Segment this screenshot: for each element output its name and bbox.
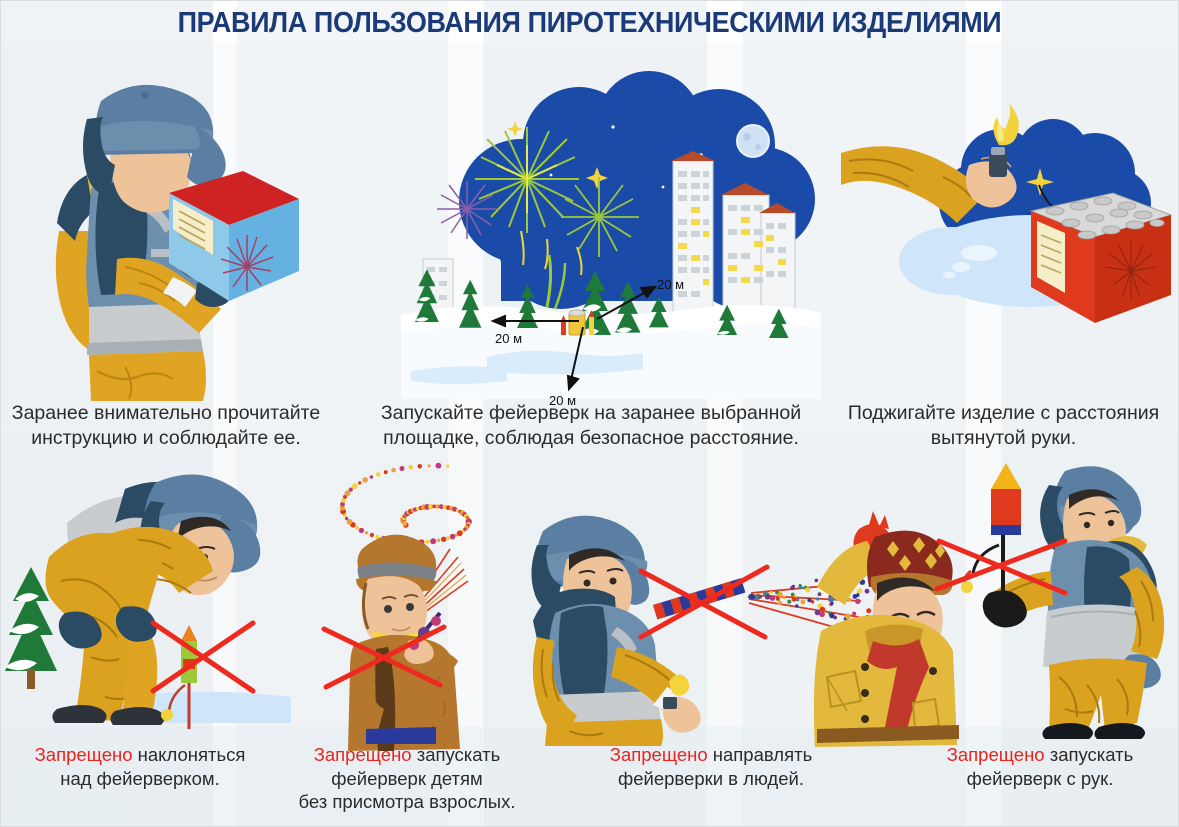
caption-no-handheld: Запрещено запускать фейерверк с рук. [901, 743, 1179, 790]
caption-line: Поджигайте изделие с расстояния [831, 401, 1176, 426]
illustration-no-aiming [521, 501, 941, 746]
caption-line: без присмотра взрослых. [283, 790, 531, 814]
caption-line: вытянутой руки. [831, 426, 1176, 451]
caption-read-instruction: Заранее внимательно прочитайте инструкци… [0, 401, 341, 451]
illustration-no-bending [1, 461, 291, 746]
illustration-no-children [296, 461, 541, 746]
caption-rest: наклоняться [133, 744, 246, 765]
caption-line: Запрещено запускать [901, 743, 1179, 767]
caption-rest: направлять [708, 744, 813, 765]
caption-line: Запрещено запускать [283, 743, 531, 767]
distance-label-right: 20 м [657, 277, 684, 292]
page-title: ПРАВИЛА ПОЛЬЗОВАНИЯ ПИРОТЕХНИЧЕСКИМИ ИЗД… [42, 7, 1137, 40]
caption-no-aiming: Запрещено направлять фейерверки в людей. [561, 743, 861, 790]
illustration-read-instruction [21, 71, 311, 401]
caption-line: площадке, соблюдая безопасное расстояние… [356, 426, 826, 451]
illustration-safe-distance: 20 м 20 м 20 м [401, 71, 821, 401]
caption-no-bending: Запрещено наклоняться над фейерверком. [1, 743, 279, 790]
forbidden-word: Запрещено [35, 744, 133, 765]
caption-rest: запускать [1045, 744, 1134, 765]
caption-line: фейерверк с рук. [901, 767, 1179, 791]
caption-line: фейерверк детям [283, 767, 531, 791]
caption-rest: запускать [412, 744, 501, 765]
caption-line: Запрещено наклоняться [1, 743, 279, 767]
forbidden-word: Запрещено [947, 744, 1045, 765]
illustration-no-handheld [941, 461, 1179, 746]
caption-line: Заранее внимательно прочитайте [0, 401, 341, 426]
forbidden-word: Запрещено [314, 744, 412, 765]
caption-safe-distance: Запускайте фейерверк на заранее выбранно… [356, 401, 826, 451]
caption-arms-length: Поджигайте изделие с расстояния вытянуто… [831, 401, 1176, 451]
caption-line: над фейерверком. [1, 767, 279, 791]
distance-label-left: 20 м [495, 331, 522, 346]
forbidden-word: Запрещено [610, 744, 708, 765]
illustration-arms-length [831, 111, 1171, 401]
caption-line: Запускайте фейерверк на заранее выбранно… [356, 401, 826, 426]
poster-background: ПРАВИЛА ПОЛЬЗОВАНИЯ ПИРОТЕХНИЧЕСКИМИ ИЗД… [0, 0, 1179, 827]
caption-line: инструкцию и соблюдайте ее. [0, 426, 341, 451]
caption-line: Запрещено направлять [561, 743, 861, 767]
caption-no-children: Запрещено запускать фейерверк детям без … [283, 743, 531, 814]
caption-line: фейерверки в людей. [561, 767, 861, 791]
